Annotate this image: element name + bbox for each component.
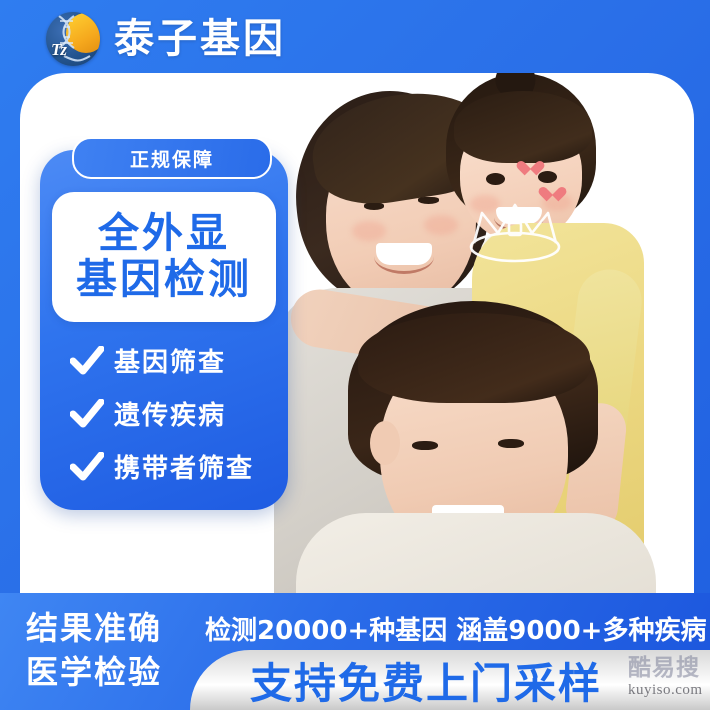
guarantee-badge-label: 正规保障 xyxy=(130,145,214,172)
feature-label: 携带者筛查 xyxy=(114,448,254,485)
bottom-stat-text: 检测20000+种基因 涵盖9000+多种疾病 xyxy=(205,610,706,647)
father-fringe xyxy=(358,313,590,403)
header-bar: Tz 泰子基因 xyxy=(0,0,710,78)
feature-item: 携带者筛查 xyxy=(70,448,310,485)
mother-blush-left xyxy=(352,221,386,241)
bottom-left-text: 结果准确 医学检验 xyxy=(26,607,162,694)
guarantee-badge: 正规保障 xyxy=(72,137,272,179)
mother-eye-right xyxy=(418,197,439,204)
feature-item: 遗传疾病 xyxy=(70,395,310,432)
heart-icon xyxy=(522,155,539,170)
bottom-left-line-1: 结果准确 xyxy=(26,607,162,651)
feature-label: 基因筛查 xyxy=(114,342,226,379)
mother-mouth xyxy=(374,239,434,274)
feature-item: 基因筛查 xyxy=(70,342,310,379)
crown-icon xyxy=(462,195,572,267)
bottom-highlight-text: 支持免费上门采样 xyxy=(250,653,710,708)
father-eye-right xyxy=(498,439,524,448)
promo-poster: Tz 泰子基因 xyxy=(0,0,710,710)
title-box: 全外显 基因检测 xyxy=(52,192,276,322)
mother-eye-left xyxy=(364,203,384,210)
dna-circle-logo-icon: Tz xyxy=(46,12,100,66)
brand-name: 泰子基因 xyxy=(114,19,286,59)
father-body xyxy=(296,513,656,593)
child-fringe xyxy=(454,91,592,163)
check-icon xyxy=(70,346,104,376)
feature-list: 基因筛查 遗传疾病 携带者筛查 xyxy=(70,342,310,501)
child-eye-left xyxy=(486,173,505,185)
check-icon xyxy=(70,452,104,482)
title-line-2: 基因检测 xyxy=(76,257,252,303)
logo-initials: Tz xyxy=(51,40,66,60)
bottom-banner: 结果准确 医学检验 检测20000+种基因 涵盖9000+多种疾病 支持免费上门… xyxy=(0,593,710,710)
feature-label: 遗传疾病 xyxy=(114,395,226,432)
family-photo xyxy=(274,73,694,593)
check-icon xyxy=(70,399,104,429)
mother-blush-right xyxy=(424,215,458,235)
bottom-left-line-2: 医学检验 xyxy=(26,651,162,695)
father-ear xyxy=(370,421,400,465)
title-line-1: 全外显 xyxy=(98,211,230,257)
father-eye-left xyxy=(412,441,438,450)
heart-icon xyxy=(544,181,561,196)
